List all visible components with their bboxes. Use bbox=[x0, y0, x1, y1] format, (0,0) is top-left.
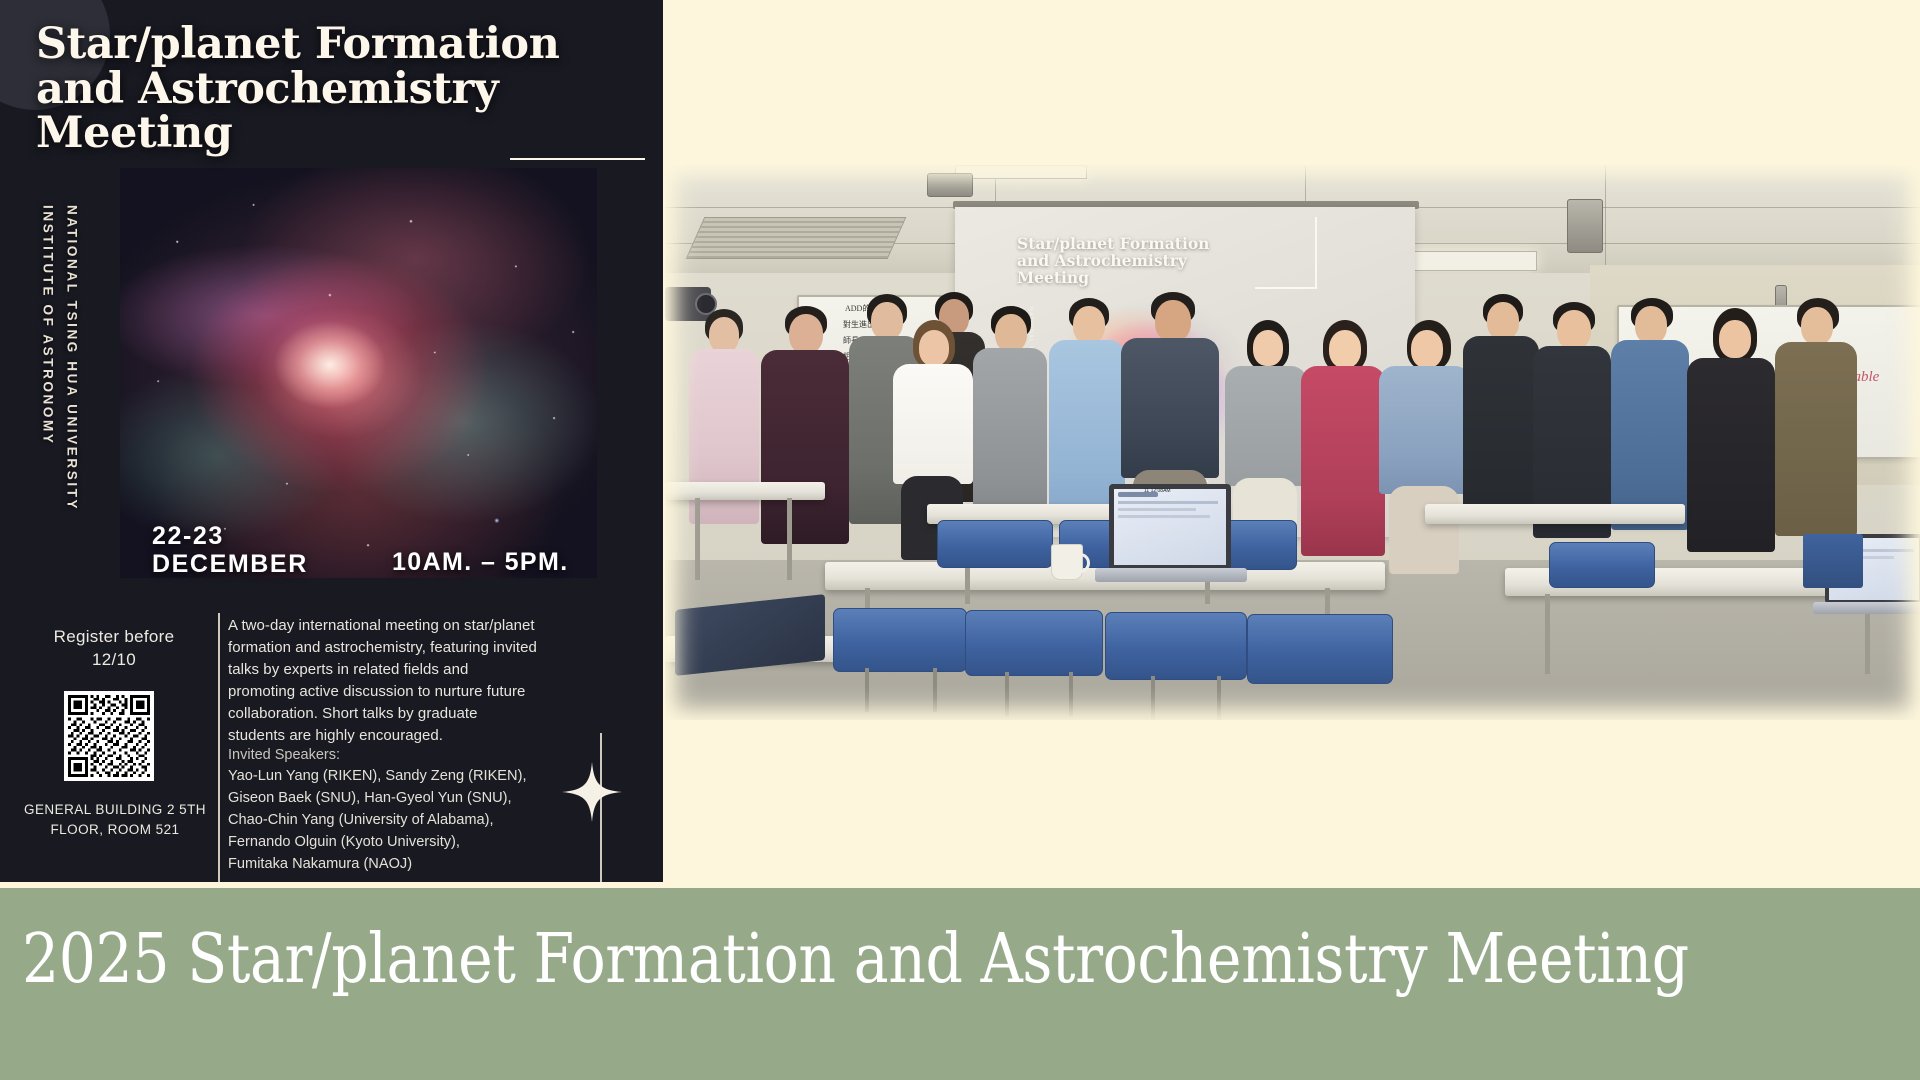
coffee-mug bbox=[1051, 544, 1083, 580]
torso bbox=[1611, 340, 1689, 530]
head bbox=[1329, 330, 1361, 368]
ceiling-air-vent bbox=[686, 217, 907, 259]
poster-description: A two-day international meeting on star/… bbox=[228, 615, 538, 747]
poster-title-line-3: Meeting bbox=[36, 111, 636, 156]
chair bbox=[937, 520, 1053, 568]
chair-leg bbox=[933, 668, 937, 712]
person bbox=[1531, 302, 1613, 538]
chair-leg bbox=[865, 668, 869, 712]
person bbox=[1609, 298, 1691, 530]
head bbox=[789, 314, 823, 354]
torso bbox=[1379, 366, 1471, 494]
person bbox=[971, 306, 1049, 534]
laptop-screen-line bbox=[1118, 515, 1210, 518]
banner-title: 2025 Star/planet Formation and Astrochem… bbox=[22, 926, 1689, 994]
poster-date-days: 22-23 bbox=[152, 522, 308, 550]
poster-organization: NATIONAL TSING HUA UNIVERSITY INSTITUTE … bbox=[36, 205, 83, 511]
head bbox=[1253, 330, 1283, 366]
projected-title-rule-vertical bbox=[1315, 217, 1317, 289]
head bbox=[1719, 320, 1751, 358]
torso bbox=[1121, 338, 1219, 478]
desk bbox=[1425, 504, 1685, 524]
classroom-scene: 講 不 要 ADD的 對生進出位置 師長也能點選 相關資訊 For speake… bbox=[665, 165, 1920, 720]
head bbox=[1073, 306, 1105, 344]
desk-leg bbox=[695, 498, 700, 580]
head bbox=[709, 317, 739, 353]
wall-speaker bbox=[927, 173, 973, 197]
poster-register-label: Register before 12/10 bbox=[40, 625, 188, 672]
laptop-screen-line bbox=[1118, 501, 1218, 504]
torso bbox=[1225, 366, 1307, 486]
person bbox=[1379, 320, 1471, 574]
desk-leg bbox=[1545, 594, 1550, 674]
poster-title-line-1: Star/planet Formation bbox=[36, 22, 636, 67]
torso bbox=[761, 350, 849, 544]
head bbox=[1557, 310, 1591, 350]
poster-speakers-heading: Invited Speakers: bbox=[228, 745, 568, 767]
projected-title-line: and Astrochemistry bbox=[1017, 252, 1347, 269]
four-point-star-icon bbox=[560, 760, 624, 824]
laptop-clock: 11 12:08AM bbox=[1144, 488, 1171, 494]
torso bbox=[893, 364, 973, 484]
registration-qr-code[interactable] bbox=[64, 691, 154, 781]
ceiling-light-panel bbox=[955, 165, 1087, 179]
laptop-screen-line bbox=[1118, 508, 1196, 511]
person bbox=[761, 306, 849, 544]
poster-divider-left bbox=[218, 613, 220, 882]
person bbox=[1461, 294, 1541, 522]
person bbox=[1687, 308, 1775, 552]
laptop-base bbox=[1813, 602, 1920, 614]
torso bbox=[1775, 342, 1857, 536]
ceiling-grid-line bbox=[1605, 165, 1606, 280]
poster-date-month: DECEMBER bbox=[152, 550, 308, 578]
bottom-banner: 2025 Star/planet Formation and Astrochem… bbox=[0, 888, 1920, 1080]
blue-storage-bin bbox=[1803, 534, 1863, 588]
chair-leg bbox=[1151, 676, 1155, 720]
speaker-line: Yao-Lun Yang (RIKEN), Sandy Zeng (RIKEN)… bbox=[228, 766, 578, 788]
chair bbox=[1549, 542, 1655, 588]
legs bbox=[1389, 486, 1459, 574]
torso bbox=[1687, 358, 1775, 552]
speaker-line: Chao-Chin Yang (University of Alabama), bbox=[228, 810, 578, 832]
event-poster: Star/planet Formation and Astrochemistry… bbox=[0, 0, 663, 882]
person bbox=[1773, 298, 1859, 536]
person bbox=[1301, 320, 1385, 556]
desk-leg bbox=[787, 498, 792, 580]
speaker-line: Giseon Baek (SNU), Han-Gyeol Yun (SNU), bbox=[228, 788, 578, 810]
poster-title-line-2: and Astrochemistry bbox=[36, 67, 636, 112]
projected-poster-title: Star/planet Formation and Astrochemistry… bbox=[1017, 235, 1347, 286]
poster-venue: GENERAL BUILDING 2 5TH FLOOR, ROOM 521 bbox=[20, 800, 210, 841]
projected-title-line: Star/planet Formation bbox=[1017, 235, 1347, 252]
page-root: Star/planet Formation and Astrochemistry… bbox=[0, 0, 1920, 1080]
chair bbox=[965, 610, 1103, 676]
title-rule bbox=[510, 158, 645, 160]
head bbox=[1155, 300, 1191, 342]
torso bbox=[1463, 336, 1539, 522]
chair bbox=[833, 608, 967, 672]
torso bbox=[1301, 366, 1385, 556]
poster-date: 22-23 DECEMBER bbox=[152, 522, 308, 578]
poster-time: 10AM. – 5PM. bbox=[392, 548, 569, 577]
laptop-base bbox=[1095, 568, 1247, 582]
chair-leg bbox=[1217, 676, 1221, 720]
head bbox=[1801, 307, 1833, 345]
laptop-screen: 11 12:08AM bbox=[1109, 484, 1231, 570]
poster-speakers-list: Yao-Lun Yang (RIKEN), Sandy Zeng (RIKEN)… bbox=[228, 766, 578, 876]
orion-nebula-image bbox=[120, 168, 597, 578]
wall-speaker bbox=[1567, 199, 1603, 253]
head bbox=[919, 330, 949, 366]
head bbox=[1635, 306, 1667, 344]
chair-leg bbox=[1069, 672, 1073, 716]
speaker-line: Fumitaka Nakamura (NAOJ) bbox=[228, 854, 578, 876]
head bbox=[995, 314, 1027, 352]
desk bbox=[665, 482, 825, 500]
poster-title: Star/planet Formation and Astrochemistry… bbox=[36, 22, 636, 156]
chair bbox=[1247, 614, 1393, 684]
projected-title-rule bbox=[1255, 287, 1317, 289]
chair-leg bbox=[1005, 672, 1009, 716]
group-photo: 講 不 要 ADD的 對生進出位置 師長也能點選 相關資訊 For speake… bbox=[665, 165, 1920, 720]
head bbox=[1411, 330, 1443, 368]
head bbox=[1487, 302, 1519, 340]
chair bbox=[1105, 612, 1247, 680]
speaker-line: Fernando Olguin (Kyoto University), bbox=[228, 832, 578, 854]
projected-title-line: Meeting bbox=[1017, 269, 1347, 286]
